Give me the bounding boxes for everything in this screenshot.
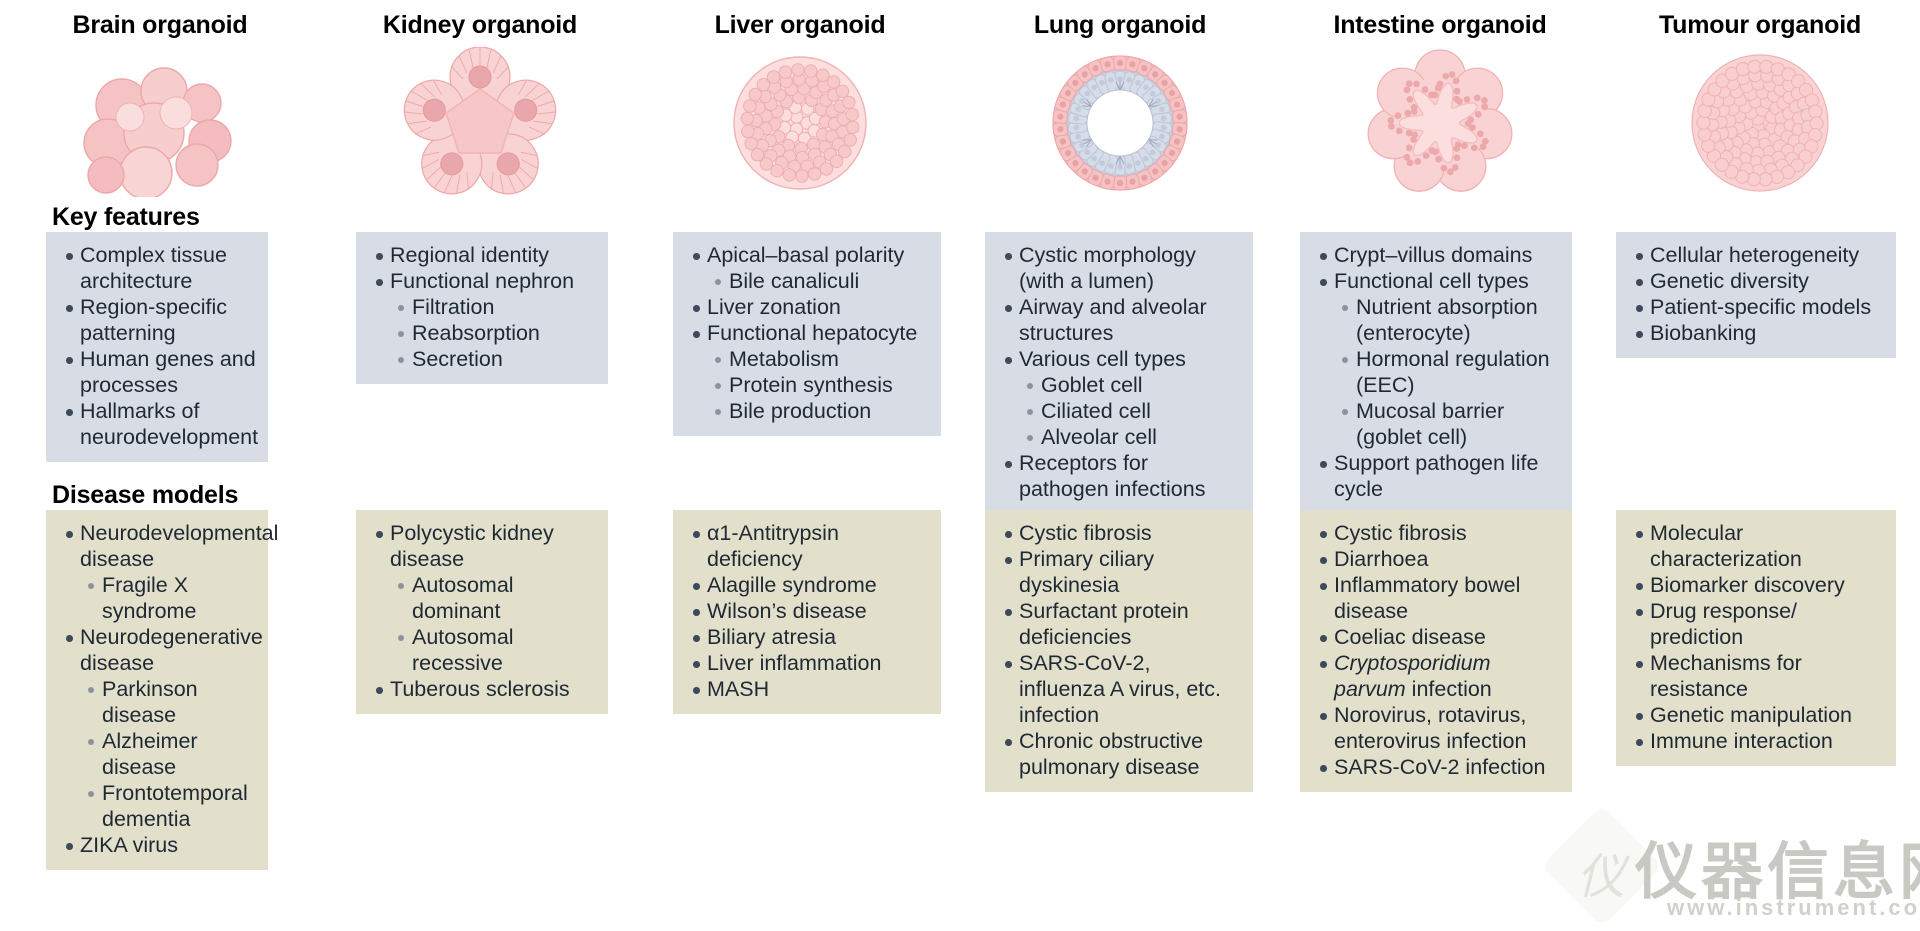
disease-model-item: Polycystic kidney disease [368, 520, 596, 572]
disease-model-item: ZIKA virus [58, 832, 256, 858]
disease-model-item: Molecular characterization [1628, 520, 1884, 572]
disease-model-item: Biliary atresia [685, 624, 929, 650]
column-title: Lung organoid [960, 8, 1280, 42]
column-lung-organoid: Lung organoid Cystic morphology (with a … [960, 0, 1280, 931]
disease-models-box: α1-Antitrypsin deficiencyAlagille syndro… [673, 510, 941, 714]
key-feature-item: Region-specific patterning [58, 294, 256, 346]
disease-model-item: Parkinson disease [58, 676, 256, 728]
disease-models-box: Polycystic kidney diseaseAutosomal domin… [356, 510, 608, 714]
column-intestine-organoid: Intestine organoid Crypt–villus domainsF… [1280, 0, 1600, 931]
disease-model-item: α1-Antitrypsin deficiency [685, 520, 929, 572]
kidney-organoid-illustration [320, 42, 640, 202]
disease-model-item: Autosomal dominant [368, 572, 596, 624]
disease-model-item: Alzheimer disease [58, 728, 256, 780]
key-features-list: Apical–basal polarityBile canaliculiLive… [685, 242, 929, 424]
key-feature-item: Functional hepatocyte [685, 320, 929, 346]
key-feature-item: Human genes and processes [58, 346, 256, 398]
key-feature-item: Hallmarks of neurodevelopment [58, 398, 256, 450]
disease-model-item: Primary ciliary dyskinesia [997, 546, 1241, 598]
intestine-organoid-illustration [1280, 42, 1600, 202]
disease-model-item: Cryptosporidium parvum infection [1312, 650, 1560, 702]
organoid-columns: Brain organoid [0, 0, 1920, 931]
key-feature-item: Reabsorption [368, 320, 596, 346]
key-feature-item: Hormonal regulation (EEC) [1312, 346, 1560, 398]
disease-models-list: Cystic fibrosisDiarrhoeaInflammatory bow… [1312, 520, 1560, 780]
key-features-box: Apical–basal polarityBile canaliculiLive… [673, 232, 941, 436]
disease-models-box: Neurodevelopmental diseaseFragile X synd… [46, 510, 268, 870]
key-feature-item: Genetic diversity [1628, 268, 1884, 294]
tumour-organoid-illustration [1600, 42, 1920, 202]
key-feature-item: Biobanking [1628, 320, 1884, 346]
disease-model-item: Cystic fibrosis [997, 520, 1241, 546]
disease-model-item: MASH [685, 676, 929, 702]
disease-model-item: Inflammatory bowel disease [1312, 572, 1560, 624]
key-features-list: Crypt–villus domainsFunctional cell type… [1312, 242, 1560, 502]
disease-models-list: Neurodevelopmental diseaseFragile X synd… [58, 520, 256, 858]
disease-model-item: Neurodegenerative disease [58, 624, 256, 676]
key-feature-item: Bile canaliculi [685, 268, 929, 294]
key-feature-item: Functional cell types [1312, 268, 1560, 294]
key-feature-item: Secretion [368, 346, 596, 372]
disease-model-item: Frontotemporal dementia [58, 780, 256, 832]
key-features-box: Cystic morphology (with a lumen)Airway a… [985, 232, 1253, 514]
key-feature-item: Receptors for pathogen infections [997, 450, 1241, 502]
disease-models-box: Molecular characterizationBiomarker disc… [1616, 510, 1896, 766]
disease-model-item: Liver inflammation [685, 650, 929, 676]
column-title: Kidney organoid [320, 8, 640, 42]
disease-model-item: Neurodevelopmental disease [58, 520, 256, 572]
disease-models-list: Molecular characterizationBiomarker disc… [1628, 520, 1884, 754]
key-feature-item: Apical–basal polarity [685, 242, 929, 268]
key-features-box: Complex tissue architectureRegion-specif… [46, 232, 268, 462]
key-feature-item: Cystic morphology (with a lumen) [997, 242, 1241, 294]
key-features-list: Cellular heterogeneityGenetic diversityP… [1628, 242, 1884, 346]
key-features-list: Cystic morphology (with a lumen)Airway a… [997, 242, 1241, 502]
disease-model-item: Biomarker discovery [1628, 572, 1884, 598]
key-feature-item: Regional identity [368, 242, 596, 268]
disease-model-item: Fragile X syndrome [58, 572, 256, 624]
key-features-list: Regional identityFunctional nephronFiltr… [368, 242, 596, 372]
column-title: Liver organoid [640, 8, 960, 42]
column-liver-organoid: Liver organoid Apical–basal polarityBile… [640, 0, 960, 931]
key-feature-item: Nutrient absorption (enterocyte) [1312, 294, 1560, 346]
disease-model-item: Diarrhoea [1312, 546, 1560, 572]
disease-models-list: α1-Antitrypsin deficiencyAlagille syndro… [685, 520, 929, 702]
key-feature-item: Protein synthesis [685, 372, 929, 398]
key-feature-item: Goblet cell [997, 372, 1241, 398]
lung-organoid-illustration [960, 42, 1280, 202]
key-feature-item: Filtration [368, 294, 596, 320]
key-feature-item: Airway and alveolar structures [997, 294, 1241, 346]
liver-organoid-illustration [640, 42, 960, 202]
column-kidney-organoid: Kidney organoid [320, 0, 640, 931]
disease-model-item: Surfactant protein deficiencies [997, 598, 1241, 650]
column-title: Brain organoid [0, 8, 320, 42]
disease-model-item: Immune interaction [1628, 728, 1884, 754]
key-feature-item: Support pathogen life cycle [1312, 450, 1560, 502]
disease-models-list: Polycystic kidney diseaseAutosomal domin… [368, 520, 596, 702]
key-feature-item: Functional nephron [368, 268, 596, 294]
key-feature-item: Various cell types [997, 346, 1241, 372]
key-features-box: Crypt–villus domainsFunctional cell type… [1300, 232, 1572, 514]
key-feature-item: Alveolar cell [997, 424, 1241, 450]
key-feature-item: Patient-specific models [1628, 294, 1884, 320]
disease-model-item: Mechanisms for resistance [1628, 650, 1884, 702]
disease-model-item: Cystic fibrosis [1312, 520, 1560, 546]
column-title: Intestine organoid [1280, 8, 1600, 42]
column-brain-organoid: Brain organoid [0, 0, 320, 931]
disease-model-item: SARS-CoV-2, influenza A virus, etc. infe… [997, 650, 1241, 728]
key-feature-item: Mucosal barrier (goblet cell) [1312, 398, 1560, 450]
column-title: Tumour organoid [1600, 8, 1920, 42]
key-feature-item: Liver zonation [685, 294, 929, 320]
key-feature-item: Crypt–villus domains [1312, 242, 1560, 268]
disease-model-item: Alagille syndrome [685, 572, 929, 598]
disease-model-item: Genetic manipulation [1628, 702, 1884, 728]
disease-model-item: Tuberous sclerosis [368, 676, 596, 702]
key-feature-item: Cellular heterogeneity [1628, 242, 1884, 268]
disease-model-item: Drug response/ prediction [1628, 598, 1884, 650]
brain-organoid-illustration [0, 42, 320, 202]
disease-model-item: Coeliac disease [1312, 624, 1560, 650]
disease-models-box: Cystic fibrosisDiarrhoeaInflammatory bow… [1300, 510, 1572, 792]
key-feature-item: Metabolism [685, 346, 929, 372]
key-feature-item: Bile production [685, 398, 929, 424]
disease-model-item: Autosomal recessive [368, 624, 596, 676]
disease-model-item: SARS-CoV-2 infection [1312, 754, 1560, 780]
column-tumour-organoid: Tumour organoid Cellular heterogeneityGe… [1600, 0, 1920, 931]
key-features-list: Complex tissue architectureRegion-specif… [58, 242, 256, 450]
organoid-comparison-figure: Key features Disease models Brain organo… [0, 0, 1920, 931]
key-features-box: Cellular heterogeneityGenetic diversityP… [1616, 232, 1896, 358]
disease-model-item: Chronic obstructive pulmonary disease [997, 728, 1241, 780]
disease-models-list: Cystic fibrosisPrimary ciliary dyskinesi… [997, 520, 1241, 780]
disease-model-item: Norovirus, rotavirus, enterovirus infect… [1312, 702, 1560, 754]
key-feature-item: Complex tissue architecture [58, 242, 256, 294]
key-features-box: Regional identityFunctional nephronFiltr… [356, 232, 608, 384]
key-feature-item: Ciliated cell [997, 398, 1241, 424]
disease-model-item: Wilson’s disease [685, 598, 929, 624]
disease-models-box: Cystic fibrosisPrimary ciliary dyskinesi… [985, 510, 1253, 792]
